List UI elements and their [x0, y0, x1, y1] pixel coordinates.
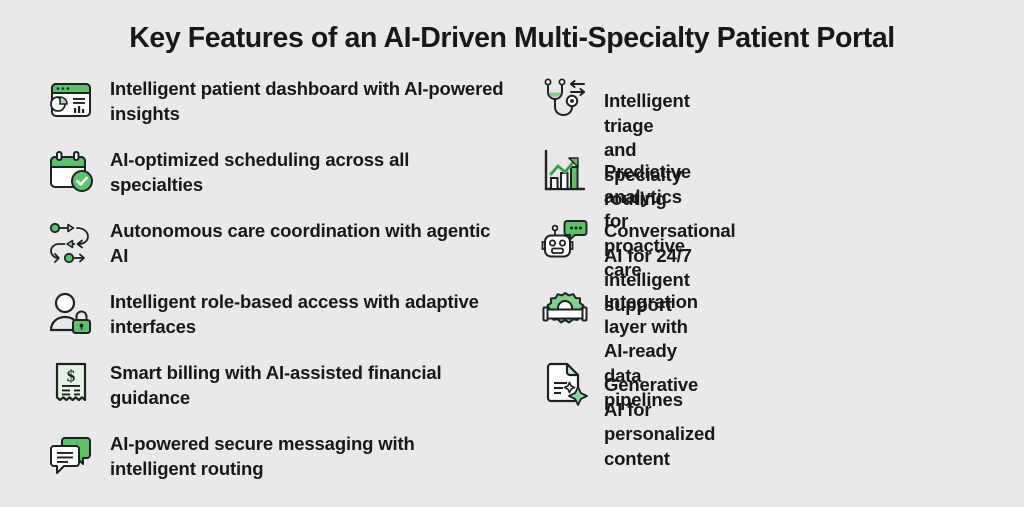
- stethoscope-routing-icon: [538, 73, 592, 127]
- robot-chat-icon: [538, 215, 592, 269]
- feature-item: AI-powered secure messaging with intelli…: [44, 427, 504, 498]
- document-sparkle-icon: [538, 357, 592, 411]
- slide-root: Key Features of an AI-Driven Multi-Speci…: [0, 0, 1024, 507]
- gear-pipeline-icon: [538, 286, 592, 340]
- chat-bubbles-icon: [44, 428, 98, 482]
- bar-chart-trend-icon: [538, 144, 592, 198]
- right-column: Intelligent triage and specialty routing: [0, 72, 558, 427]
- feature-label: Generative AI for personalized content: [592, 356, 715, 471]
- feature-columns: Intelligent patient dashboard with AI-po…: [0, 72, 1024, 498]
- page-title: Key Features of an AI-Driven Multi-Speci…: [0, 22, 1024, 55]
- feature-label: AI-powered secure messaging with intelli…: [98, 427, 504, 481]
